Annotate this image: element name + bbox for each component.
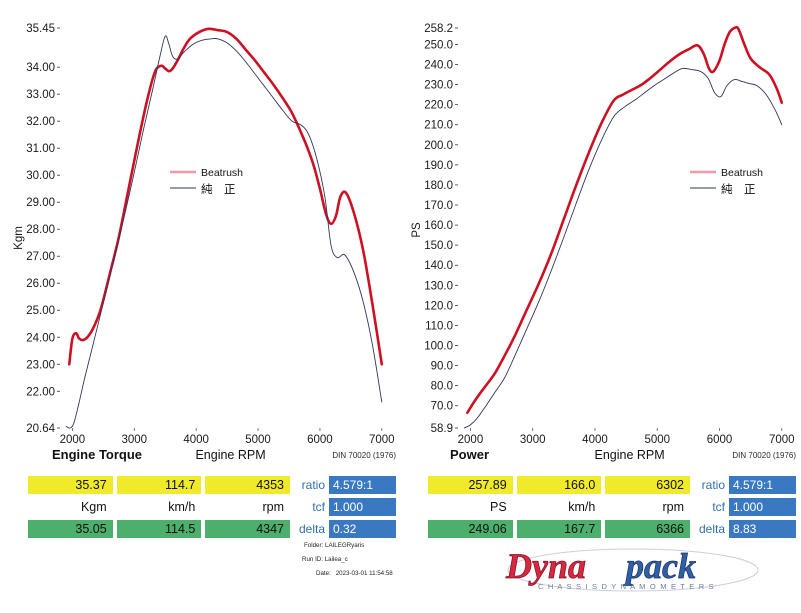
power-base-value: 249.06 [428, 520, 513, 538]
svg-text:7000: 7000 [369, 434, 395, 446]
date-label: Date: [316, 571, 334, 578]
svg-text:220.0: 220.0 [424, 100, 453, 112]
svg-text:150.0: 150.0 [424, 240, 453, 252]
logo-tagline: C H A S S I S D Y N A M O M E T E R S [538, 582, 715, 591]
svg-text:PS: PS [411, 222, 423, 238]
series-line-stock [66, 36, 382, 428]
power-peak-value: 257.89 [428, 476, 513, 494]
svg-text:7000: 7000 [769, 434, 795, 446]
svg-text:24.00: 24.00 [26, 332, 55, 344]
svg-text:34.00: 34.00 [26, 62, 55, 74]
tcf-label: tcf [296, 500, 329, 514]
kv-row-ratio: ratio 4.579:1 [296, 476, 396, 494]
torque-peak-rpm: 4353 [205, 476, 290, 494]
svg-text:Kgm: Kgm [13, 226, 25, 250]
svg-text:5000: 5000 [245, 434, 271, 446]
torque-plot: 20.6422.0023.0024.0025.0026.0027.0028.00… [0, 0, 400, 470]
kv-row-tcf: tcf 1.000 [696, 498, 796, 516]
delta-value: 0.32 [329, 520, 396, 538]
tcf-label: tcf [696, 500, 729, 514]
dynapack-logo: Dyna pack C H A S S I S D Y N A M O M E … [498, 544, 768, 596]
svg-text:6000: 6000 [707, 434, 733, 446]
runid-label: Run ID: [302, 557, 323, 564]
folder-value: LAILEGRyaris [325, 542, 364, 549]
svg-text:27.00: 27.00 [26, 251, 55, 263]
dynapack-logo-svg: Dyna pack C H A S S I S D Y N A M O M E … [498, 544, 768, 596]
svg-text:210.0: 210.0 [424, 120, 453, 132]
power-base-rpm: 6366 [605, 520, 690, 538]
table-row: 35.37 114.7 4353 [28, 476, 290, 494]
runid-line: Run ID: Lailea_c [300, 557, 410, 564]
svg-text:258.2: 258.2 [424, 23, 453, 35]
svg-text:29.00: 29.00 [26, 197, 55, 209]
x-axis-name: Engine RPM [595, 448, 665, 462]
power-results-table: 257.89 166.0 6302 PS km/h rpm 249.06 167… [400, 476, 800, 546]
rpm-unit-header: rpm [205, 498, 290, 516]
delta-label: delta [696, 522, 729, 536]
svg-text:170.0: 170.0 [424, 200, 453, 212]
torque-peak-value: 35.37 [28, 476, 113, 494]
svg-text:250.0: 250.0 [424, 39, 453, 51]
svg-text:2000: 2000 [60, 434, 86, 446]
ratio-label: ratio [296, 478, 329, 492]
ratio-value: 4.579:1 [729, 476, 796, 494]
svg-text:23.00: 23.00 [26, 359, 55, 371]
standard-note: DIN 70020 (1976) [732, 451, 796, 460]
speed-unit-header: km/h [117, 498, 202, 516]
svg-text:20.64: 20.64 [26, 423, 55, 435]
svg-text:110.0: 110.0 [425, 320, 453, 332]
svg-text:240.0: 240.0 [424, 60, 453, 72]
runid-value: Lailea_c [325, 556, 348, 563]
tcf-value: 1.000 [329, 498, 396, 516]
torque-chart-area: 20.6422.0023.0024.0025.0026.0027.0028.00… [0, 0, 400, 470]
kv-row-ratio: ratio 4.579:1 [696, 476, 796, 494]
standard-note: DIN 70020 (1976) [332, 451, 396, 460]
svg-text:190.0: 190.0 [424, 160, 453, 172]
svg-text:180.0: 180.0 [424, 180, 453, 192]
ratio-label: ratio [696, 478, 729, 492]
legend-label-beatrush: Beatrush [721, 167, 763, 179]
power-base-speed: 167.7 [517, 520, 602, 538]
svg-text:160.0: 160.0 [424, 220, 453, 232]
svg-text:6000: 6000 [307, 434, 333, 446]
series-line-beatrush [467, 27, 781, 413]
legend-label-stock: 純 正 [201, 182, 236, 196]
kv-row-delta: delta 8.83 [696, 520, 796, 538]
plot-title: Power [450, 447, 489, 462]
svg-text:140.0: 140.0 [424, 260, 453, 272]
svg-text:30.00: 30.00 [26, 170, 55, 182]
table-row: 35.05 114.5 4347 [28, 520, 290, 538]
svg-text:5000: 5000 [644, 434, 670, 446]
delta-value: 8.83 [729, 520, 796, 538]
date-value: 2023-03-01 11:54:58 [336, 570, 393, 577]
series-line-beatrush [69, 29, 382, 365]
folder-line: Folder: LAILEGRyaris [300, 543, 410, 550]
svg-text:58.9: 58.9 [431, 423, 453, 435]
svg-text:28.00: 28.00 [26, 224, 55, 236]
torque-base-value: 35.05 [28, 520, 113, 538]
power-peak-speed: 166.0 [517, 476, 602, 494]
legend-label-beatrush: Beatrush [201, 167, 243, 179]
table-row: 257.89 166.0 6302 [428, 476, 690, 494]
series-line-stock [464, 68, 782, 428]
kv-row-delta: delta 0.32 [296, 520, 396, 538]
table-row: 249.06 167.7 6366 [428, 520, 690, 538]
svg-text:3000: 3000 [121, 434, 147, 446]
power-plot: 58.970.080.090.0100.0110.0120.0130.0140.… [400, 0, 800, 470]
torque-base-rpm: 4347 [205, 520, 290, 538]
speed-unit-header: km/h [517, 498, 602, 516]
delta-label: delta [296, 522, 329, 536]
date-line: Date: 2023-03-01 11:54:58 [300, 571, 410, 578]
torque-peak-speed: 114.7 [117, 476, 202, 494]
svg-text:35.45: 35.45 [26, 23, 55, 35]
power-panel: 58.970.080.090.0100.0110.0120.0130.0140.… [400, 0, 800, 613]
svg-text:90.0: 90.0 [431, 361, 453, 373]
table-row: Kgm km/h rpm [28, 498, 290, 516]
svg-text:4000: 4000 [183, 434, 209, 446]
svg-text:130.0: 130.0 [424, 280, 453, 292]
svg-text:200.0: 200.0 [424, 140, 453, 152]
svg-text:230.0: 230.0 [424, 80, 453, 92]
torque-base-speed: 114.5 [117, 520, 202, 538]
logo-pack-text: pack [623, 546, 696, 586]
svg-text:3000: 3000 [520, 434, 546, 446]
svg-text:26.00: 26.00 [26, 278, 55, 290]
svg-text:100.0: 100.0 [424, 341, 453, 353]
svg-text:32.00: 32.00 [26, 116, 55, 128]
torque-kv-block: ratio 4.579:1 tcf 1.000 delta 0.32 [296, 476, 396, 542]
power-unit-header: PS [428, 498, 513, 516]
logo-dyna-text: Dyna [505, 546, 586, 586]
x-axis-name: Engine RPM [195, 448, 265, 462]
ratio-value: 4.579:1 [329, 476, 396, 494]
plot-title: Engine Torque [52, 447, 142, 462]
svg-text:70.0: 70.0 [431, 401, 453, 413]
svg-text:25.00: 25.00 [26, 305, 55, 317]
power-peak-rpm: 6302 [605, 476, 690, 494]
rpm-unit-header: rpm [605, 498, 690, 516]
svg-text:4000: 4000 [582, 434, 608, 446]
svg-text:120.0: 120.0 [424, 300, 453, 312]
svg-text:31.00: 31.00 [26, 143, 55, 155]
torque-results-table: 35.37 114.7 4353 Kgm km/h rpm 35.05 114.… [0, 476, 400, 546]
table-row: PS km/h rpm [428, 498, 690, 516]
folder-label: Folder: [304, 543, 323, 550]
power-chart-area: 58.970.080.090.0100.0110.0120.0130.0140.… [400, 0, 800, 470]
torque-panel: 20.6422.0023.0024.0025.0026.0027.0028.00… [0, 0, 400, 613]
tcf-value: 1.000 [729, 498, 796, 516]
kv-row-tcf: tcf 1.000 [296, 498, 396, 516]
run-metadata: Folder: LAILEGRyaris Run ID: Lailea_c Da… [300, 543, 410, 584]
svg-text:33.00: 33.00 [26, 89, 55, 101]
svg-text:22.00: 22.00 [26, 386, 55, 398]
torque-unit-header: Kgm [28, 498, 113, 516]
svg-text:2000: 2000 [458, 434, 484, 446]
power-kv-block: ratio 4.579:1 tcf 1.000 delta 8.83 [696, 476, 796, 542]
svg-text:80.0: 80.0 [431, 381, 453, 393]
legend-label-stock: 純 正 [721, 182, 756, 196]
